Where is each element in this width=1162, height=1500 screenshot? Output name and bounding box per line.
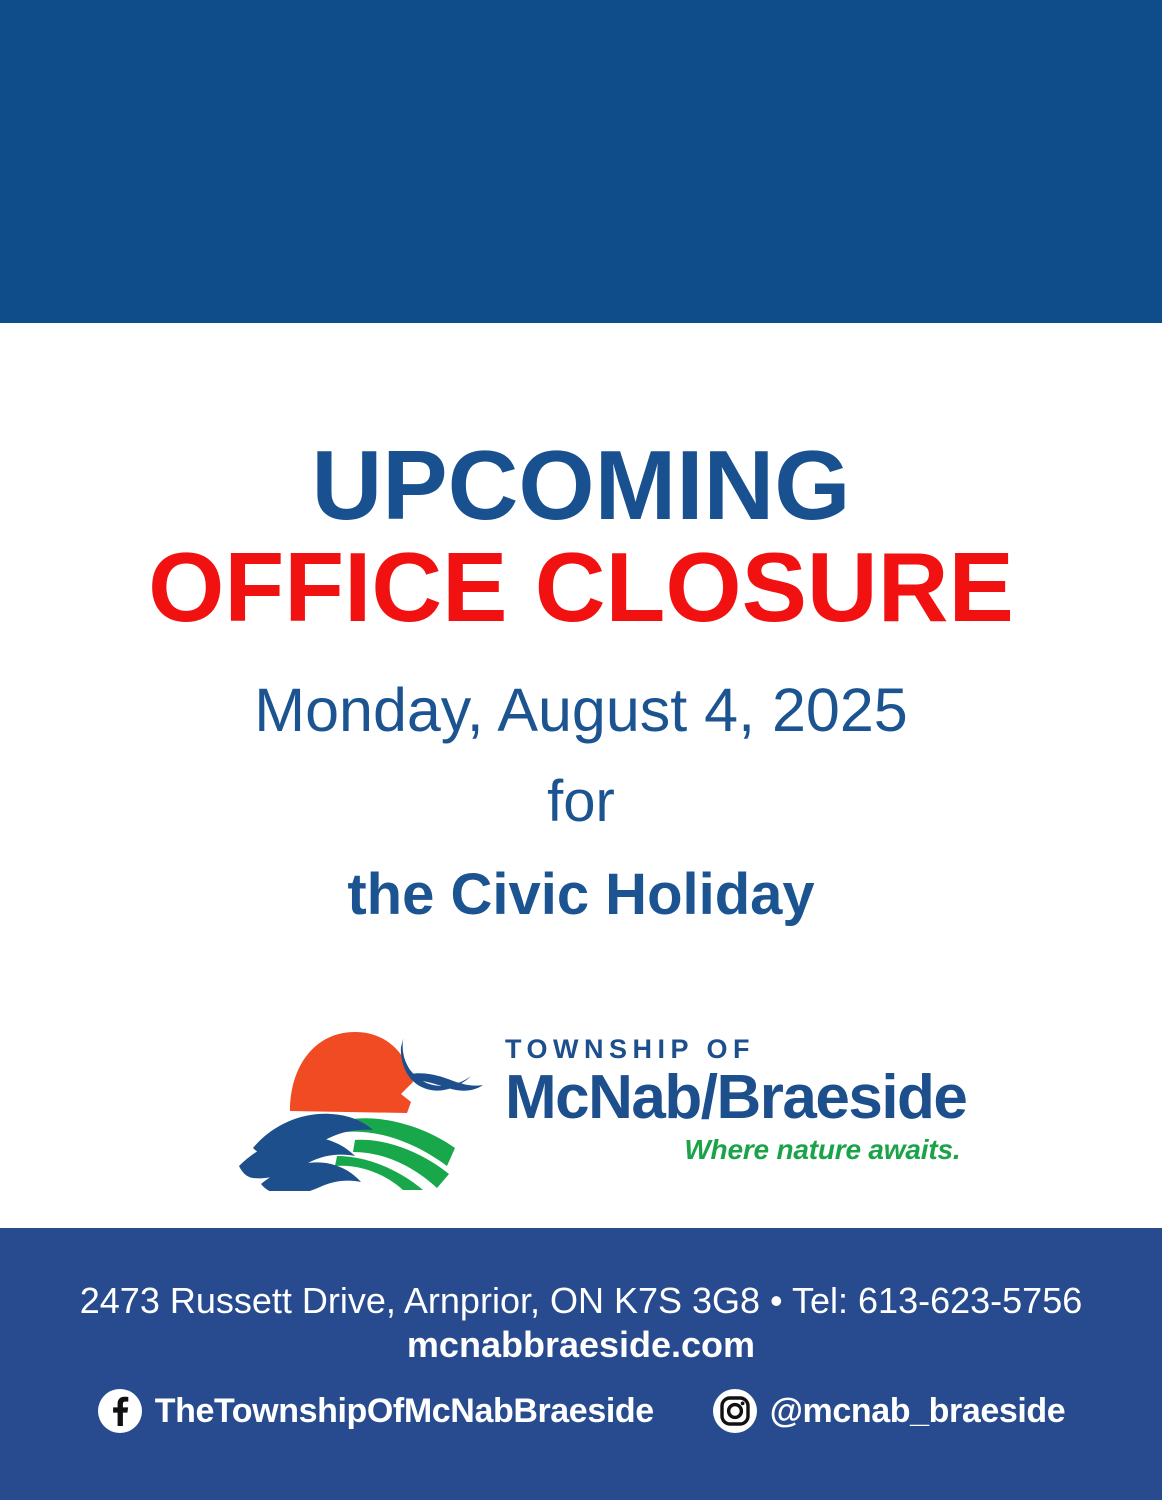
footer-address: 2473 Russett Drive, Arnprior, ON K7S 3G8… [0,1280,1162,1322]
footer-social-row: TheTownshipOfMcNabBraeside @mcnab_braesi… [0,1388,1162,1434]
township-logo: TOWNSHIP OF McNab/Braeside Where nature … [215,1013,955,1193]
connector-for: for [0,770,1162,835]
headline-upcoming: UPCOMING [0,436,1162,536]
detail-block: Monday, August 4, 2025 for the Civic Hol… [0,676,1162,928]
footer-band: 2473 Russett Drive, Arnprior, ON K7S 3G8… [0,1228,1162,1500]
social-link-instagram[interactable]: @mcnab_braeside [712,1388,1066,1434]
logo-wordmark: TOWNSHIP OF McNab/Braeside Where nature … [495,1036,966,1170]
top-banner [0,0,1162,323]
water-waves-shape [239,1113,373,1190]
goose-icon [401,1036,483,1091]
social-link-facebook[interactable]: TheTownshipOfMcNabBraeside [97,1388,654,1434]
instagram-icon[interactable] [712,1388,758,1434]
logo-municipality-name: McNab/Braeside [505,1066,966,1129]
mcnab-braeside-logo-mark [215,1016,495,1191]
closure-reason: the Civic Holiday [0,863,1162,928]
sun-shape [290,1032,413,1113]
facebook-icon[interactable] [97,1388,143,1434]
facebook-handle[interactable]: TheTownshipOfMcNabBraeside [155,1392,654,1431]
logo-tagline: Where nature awaits. [505,1136,960,1164]
logo-township-label: TOWNSHIP OF [505,1036,966,1063]
headline-block: UPCOMING OFFICE CLOSURE [0,436,1162,640]
poster-body: UPCOMING OFFICE CLOSURE Monday, August 4… [0,323,1162,1228]
headline-office-closure: OFFICE CLOSURE [0,536,1162,640]
closure-date: Monday, August 4, 2025 [0,676,1162,744]
footer-website[interactable]: mcnabbraeside.com [0,1324,1162,1366]
instagram-handle[interactable]: @mcnab_braeside [770,1392,1066,1431]
